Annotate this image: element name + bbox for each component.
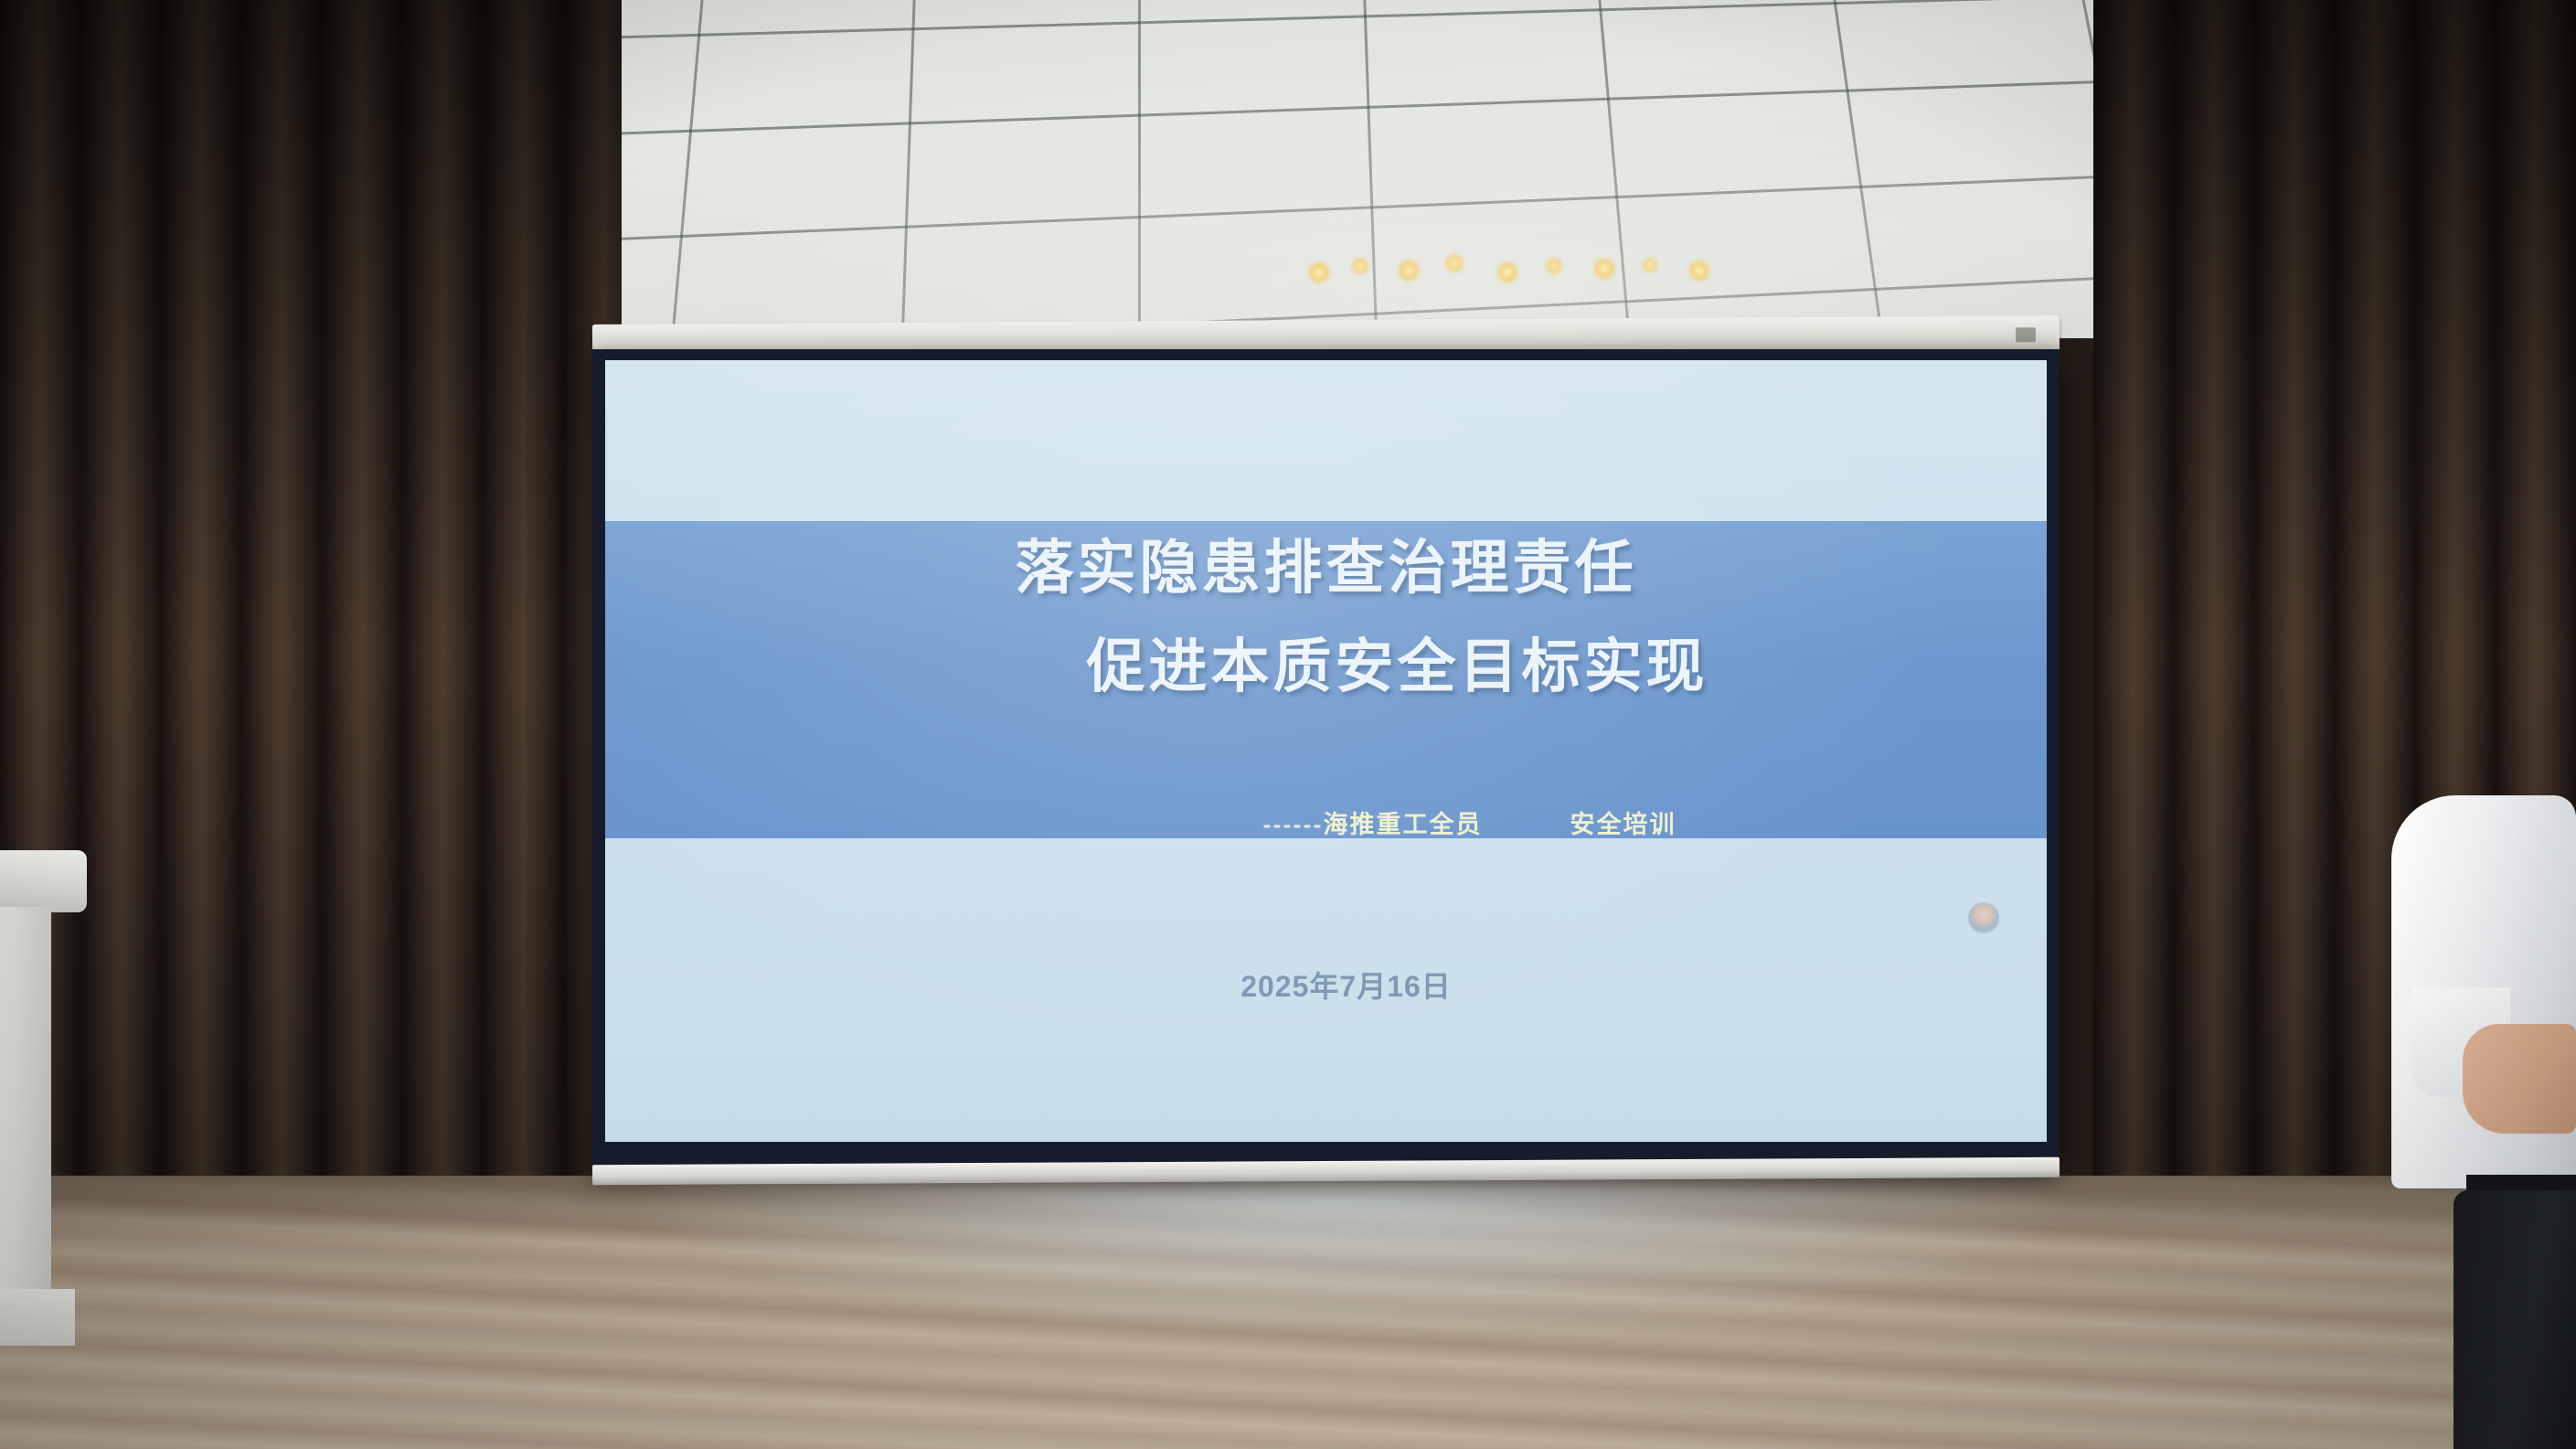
person-standing (2375, 795, 2576, 1449)
slide-title-line-2: 促进本质安全目标实现 (605, 637, 2047, 696)
slide-subtitle-organization: 海推重工全员 (1323, 811, 1482, 838)
lectern-base (0, 1289, 75, 1346)
lectern-body (0, 907, 51, 1300)
lectern-top (0, 850, 87, 912)
projector-light-spill (640, 1179, 2066, 1362)
housing-brand-label (2016, 327, 2036, 342)
meeting-room-photo: 落实隐患排查治理责任 促进本质安全目标实现 ------海推重工全员安全培训 2… (0, 0, 2576, 1449)
slide-subtitle-dashes: ------ (1263, 811, 1324, 838)
lectern (0, 850, 87, 1344)
slide-date: 2025年7月16日 (605, 964, 2047, 1006)
slide-subtitle-topic: 安全培训 (1570, 811, 1676, 838)
person-arm (2463, 1024, 2576, 1134)
slide-title-line-1: 落实隐患排查治理责任 (605, 538, 2047, 597)
slide-subtitle: ------海推重工全员安全培训 (605, 776, 2047, 868)
projection-screen-frame: 落实隐患排查治理责任 促进本质安全目标实现 ------海推重工全员安全培训 2… (592, 349, 2060, 1172)
slide-avatar-watermark (1968, 902, 1999, 933)
projection-screen-surface: 落实隐患排查治理责任 促进本质安全目标实现 ------海推重工全员安全培训 2… (605, 360, 2047, 1142)
slide-upper-background (605, 360, 2047, 521)
person-trousers (2454, 1190, 2576, 1449)
